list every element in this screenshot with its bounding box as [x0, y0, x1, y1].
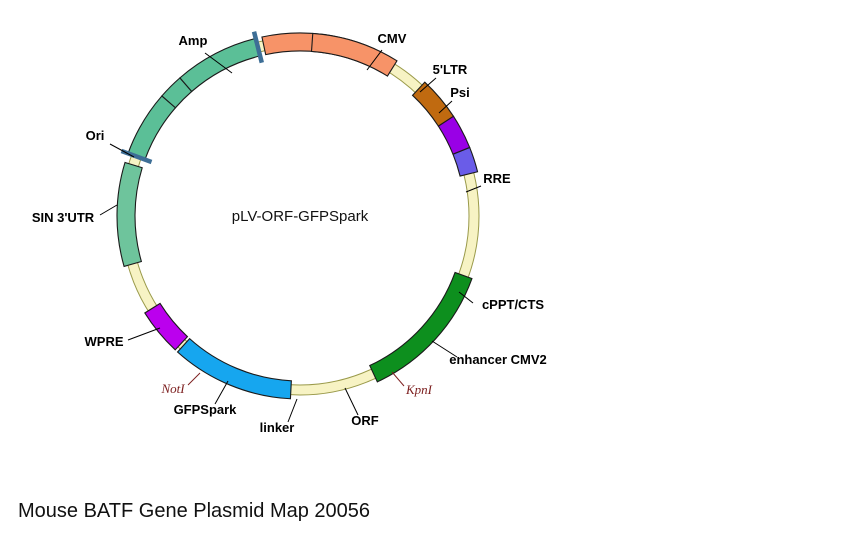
feature-arc-sin-3-utr: [145, 303, 188, 349]
restriction-label-kpni: KpnI: [405, 382, 433, 397]
feature-label-rre: RRE: [483, 171, 511, 186]
leader-line: [345, 388, 358, 415]
plasmid-diagram: AmpOriSIN 3'UTRWPREGFPSparklinkerORFenha…: [0, 0, 853, 470]
feature-arc-ori: [178, 339, 292, 399]
feature-arc-wpre: [117, 162, 142, 266]
leader-line: [215, 381, 228, 404]
feature-label-gfpspark: GFPSpark: [174, 402, 238, 417]
figure-caption: Mouse BATF Gene Plasmid Map 20056: [18, 500, 370, 523]
plasmid-name-label: pLV-ORF-GFPSpark: [232, 208, 369, 225]
feature-arc-rre: [413, 82, 454, 126]
leader-line: [288, 399, 297, 422]
feature-label-wpre: WPRE: [85, 334, 124, 349]
leader-line: [392, 372, 404, 386]
leader-line: [100, 205, 117, 215]
feature-label-psi: Psi: [450, 85, 470, 100]
feature-arc-gfpspark: [128, 96, 175, 160]
leader-line: [188, 373, 200, 385]
feature-label-5-ltr: 5'LTR: [433, 62, 468, 77]
feature-label-amp: Amp: [179, 33, 208, 48]
leader-line: [128, 328, 160, 340]
feature-label-orf: ORF: [351, 413, 379, 428]
feature-label-cppt-cts: cPPT/CTS: [482, 297, 544, 312]
feature-label-ori: Ori: [86, 128, 105, 143]
feature-label-enhancer-cmv2: enhancer CMV2: [449, 352, 547, 367]
plasmid-map-canvas: AmpOriSIN 3'UTRWPREGFPSparklinkerORFenha…: [0, 0, 853, 470]
feature-label-cmv: CMV: [378, 31, 407, 46]
restriction-label-noti: NotI: [160, 381, 185, 396]
feature-label-sin-3-utr: SIN 3'UTR: [32, 210, 95, 225]
feature-label-linker: linker: [260, 420, 295, 435]
